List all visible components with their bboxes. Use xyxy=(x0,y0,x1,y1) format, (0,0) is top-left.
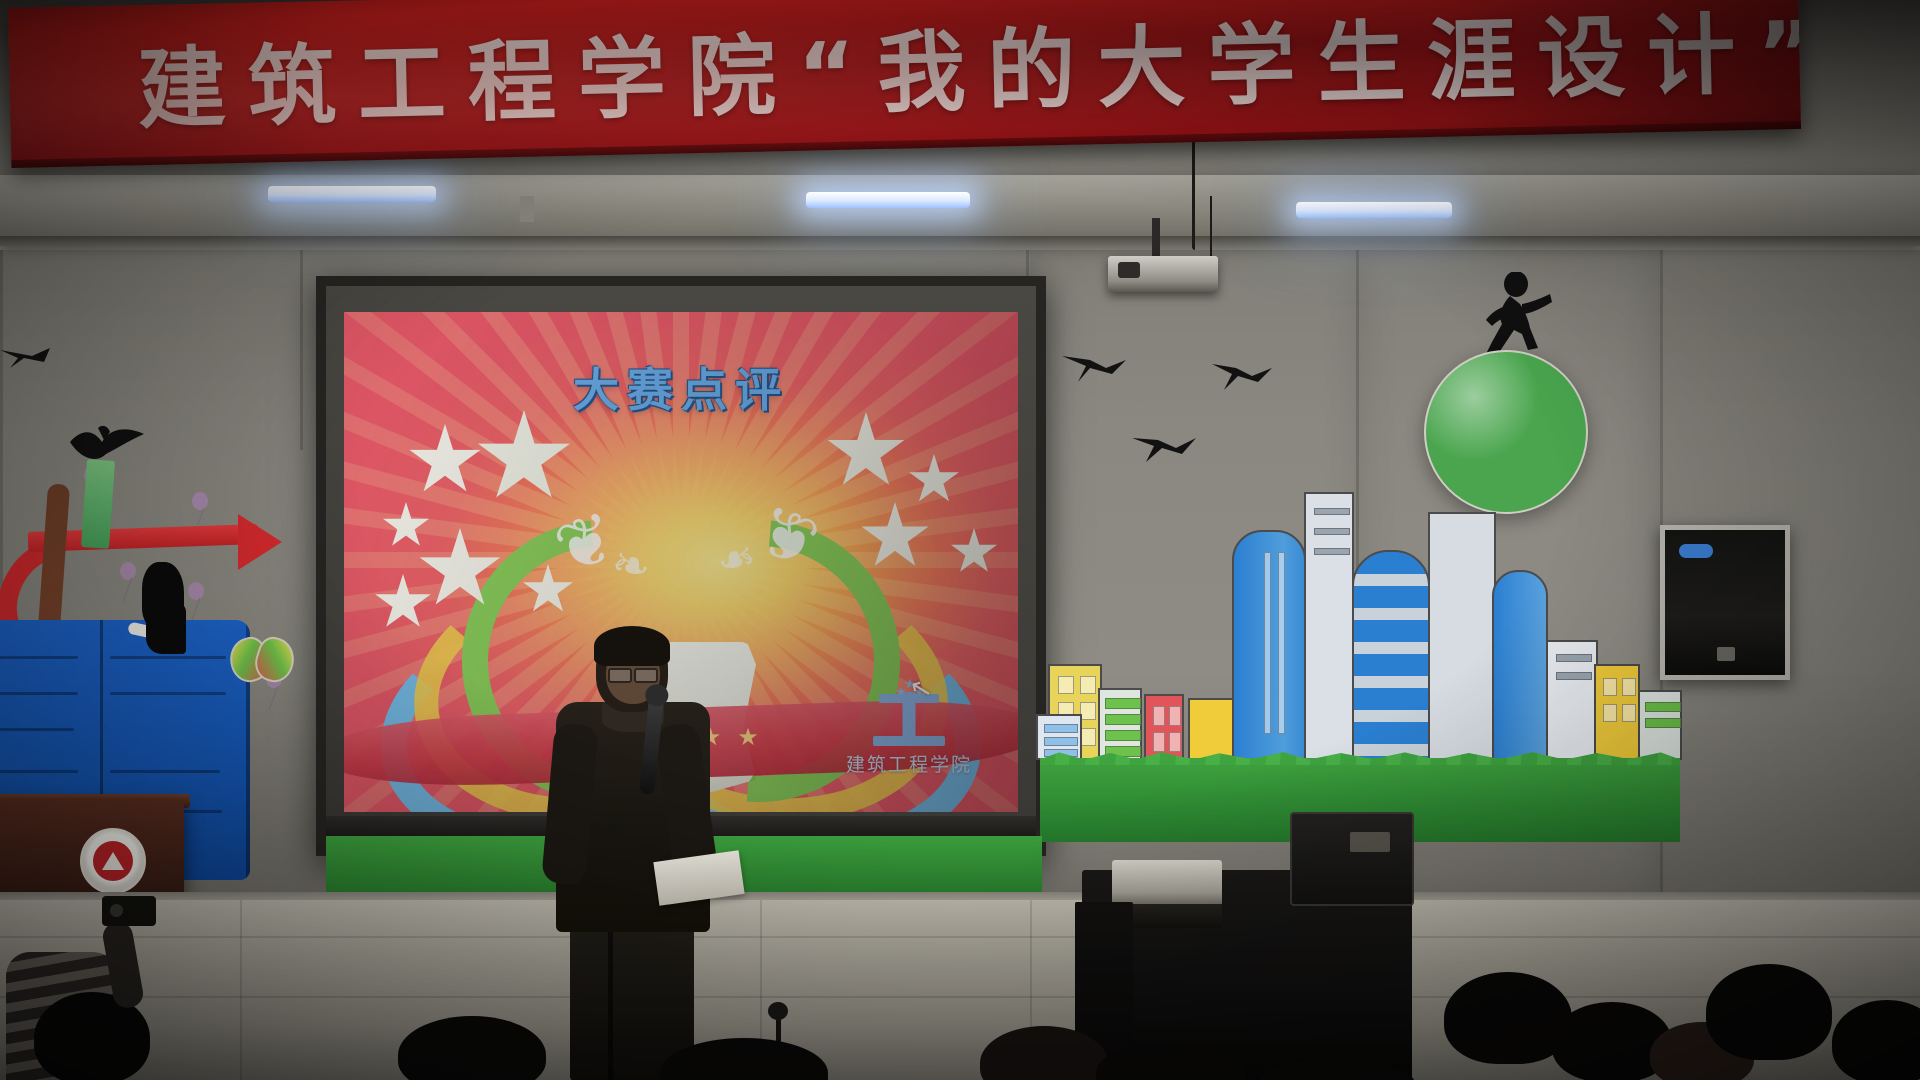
av-projector-box xyxy=(1112,860,1222,906)
audience-arm xyxy=(101,920,145,1010)
building-red xyxy=(1144,694,1184,760)
building-striped-round xyxy=(1352,550,1430,760)
photo-scene: 建筑工程学院“我的大学生涯设计”决赛 大赛点评 ❦ ❦ ❧ ❧ xyxy=(0,0,1920,1080)
ceiling-beam xyxy=(0,175,1920,241)
banner-text: 建筑工程学院“我的大学生涯设计”决赛 xyxy=(136,0,1778,146)
ceiling-beam-edge xyxy=(0,236,1920,246)
book-line-7 xyxy=(110,770,220,773)
reading-girl-silhouette xyxy=(128,562,190,654)
book-line-1 xyxy=(0,656,78,659)
book-line-2 xyxy=(0,692,78,695)
podium-emblem-icon xyxy=(80,828,146,894)
projector-lens-icon xyxy=(1118,262,1140,278)
butterfly-icon xyxy=(230,638,294,686)
fluorescent-light-1 xyxy=(268,186,436,202)
floor-line-2 xyxy=(0,996,1920,998)
emblem-base xyxy=(873,736,945,746)
building-yellow-2 xyxy=(1188,698,1234,760)
camera-lens-icon xyxy=(110,904,123,917)
fluorescent-light-2 xyxy=(806,192,970,208)
book-line-3 xyxy=(0,728,74,731)
arrow-head-icon xyxy=(238,514,282,570)
building-grey-tall xyxy=(1428,512,1496,760)
slide-title: 大赛点评 xyxy=(344,354,1018,420)
building-white-2 xyxy=(1546,640,1598,760)
ceiling-fitting xyxy=(520,196,534,222)
av-monitor xyxy=(1290,812,1414,906)
mic-stand-head xyxy=(768,1002,788,1020)
floor-line-1 xyxy=(0,936,1920,938)
building-yellow-3 xyxy=(1594,664,1640,760)
building-green-striped xyxy=(1098,688,1142,760)
panel-blue-sticker xyxy=(1679,544,1713,558)
audience-head-8 xyxy=(1706,964,1832,1060)
building-white-tall xyxy=(1304,492,1354,760)
projector-mount xyxy=(1152,218,1160,260)
fluorescent-light-3 xyxy=(1296,202,1452,218)
slide-logo-text: 建筑工程学院 xyxy=(834,750,984,777)
panel-small-button[interactable] xyxy=(1717,647,1735,661)
book-line-6 xyxy=(110,692,226,695)
building-blue-tall-2 xyxy=(1492,570,1548,760)
presenter xyxy=(548,628,718,1080)
glasses-icon xyxy=(608,668,658,680)
slide-institution-logo: ★ ★ ★ 建筑工程学院 xyxy=(834,684,984,794)
building-green-striped-2 xyxy=(1638,690,1682,760)
podium-emblem-inner xyxy=(93,841,133,881)
presenter-leg-split xyxy=(608,928,613,1080)
monitor-screen xyxy=(1350,832,1390,852)
bird-silhouette-icon-4 xyxy=(1130,430,1200,473)
bird-silhouette-icon-2 xyxy=(1060,348,1132,393)
bird-silhouette-icon-5 xyxy=(0,344,50,377)
floor-line-3 xyxy=(240,900,242,1080)
bird-silhouette-icon-3 xyxy=(1208,358,1276,401)
city-skyline-mural xyxy=(1040,490,1680,840)
camera-icon xyxy=(102,896,156,926)
pillar-emblem-icon: ★ ★ ★ xyxy=(871,684,947,746)
balloon-2 xyxy=(192,492,208,510)
podium-emblem-triangle xyxy=(102,852,124,870)
book-line-5 xyxy=(110,656,226,659)
wall-seam-6 xyxy=(300,250,303,450)
presenter-hair xyxy=(594,626,670,666)
reader-hair xyxy=(142,562,184,628)
audience-camera-hand xyxy=(48,896,168,1016)
book-line-4 xyxy=(0,770,78,773)
balloon-4 xyxy=(188,582,204,600)
building-blue-tall-1 xyxy=(1232,530,1306,760)
